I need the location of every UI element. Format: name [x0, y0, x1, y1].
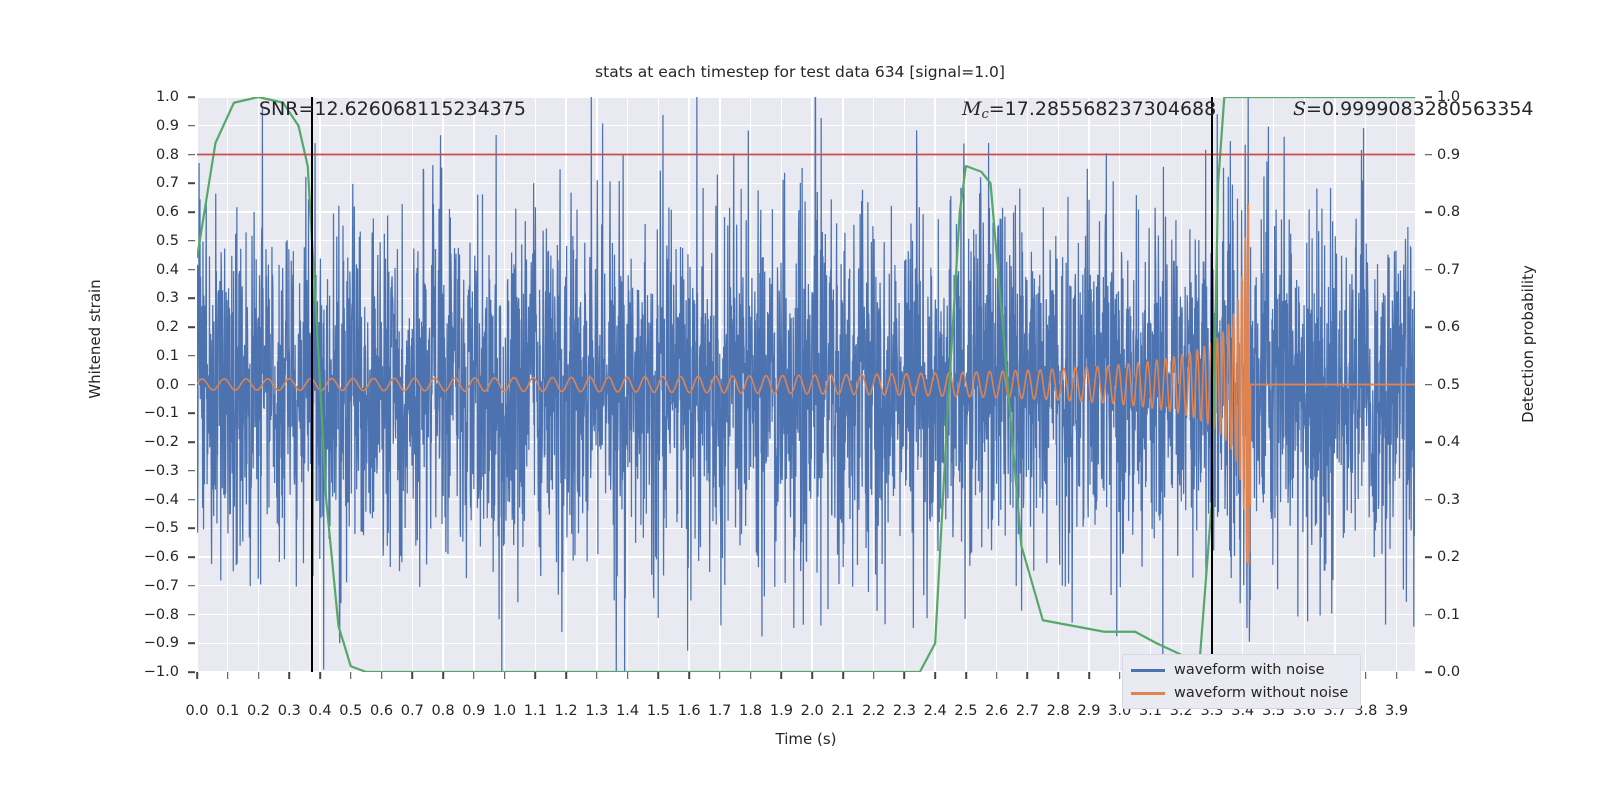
y-tick-label-right: 0.5	[1437, 377, 1497, 393]
x-tick-mark	[996, 672, 998, 679]
x-tick-mark	[350, 672, 352, 679]
x-tick-mark	[719, 672, 721, 679]
y-axis-left-label: Whitened strain	[86, 239, 104, 439]
mc-marker	[1211, 97, 1213, 672]
snr-annotation: SNR=12.626068115234375	[259, 98, 526, 120]
y-tick-label-left: −0.8	[123, 607, 179, 623]
y-tick-label-left: −0.7	[123, 578, 179, 594]
legend-swatch	[1131, 669, 1165, 672]
x-tick-mark	[781, 672, 783, 679]
y-tick-mark-right	[1425, 154, 1432, 156]
y-tick-label-left: 0.1	[123, 348, 179, 364]
y-tick-label-right: 0.2	[1437, 549, 1497, 565]
score-eq: =	[1306, 98, 1322, 120]
y-tick-mark-left	[188, 585, 195, 587]
y-tick-mark-right	[1425, 556, 1432, 558]
y-tick-mark-right	[1425, 211, 1432, 213]
y-tick-mark-right	[1425, 384, 1432, 386]
x-tick-mark	[627, 672, 629, 679]
y-tick-mark-left	[188, 671, 195, 673]
x-tick-mark	[1088, 672, 1090, 679]
y-tick-mark-left	[188, 384, 195, 386]
y-tick-label-left: −0.9	[123, 635, 179, 651]
x-tick-mark	[1057, 672, 1059, 679]
y-tick-mark-left	[188, 499, 195, 501]
y-tick-mark-left	[188, 556, 195, 558]
legend[interactable]: waveform with noisewaveform without nois…	[1122, 654, 1361, 709]
snr-value: 12.626068115234375	[314, 98, 526, 120]
y-tick-label-right: 0.3	[1437, 492, 1497, 508]
score-annotation: S=0.9999083280563354	[1293, 98, 1534, 120]
y-tick-label-left: 0.8	[123, 147, 179, 163]
x-tick-mark	[565, 672, 567, 679]
y-tick-mark-left	[188, 96, 195, 98]
y-tick-mark-left	[188, 154, 195, 156]
chart-title: stats at each timestep for test data 634…	[0, 63, 1600, 81]
x-tick-mark	[442, 672, 444, 679]
x-tick-mark	[288, 672, 290, 679]
merger-spike	[1248, 203, 1249, 551]
y-tick-label-right: 0.1	[1437, 607, 1497, 623]
y-tick-mark-left	[188, 642, 195, 644]
y-tick-label-left: 0.4	[123, 262, 179, 278]
x-tick-mark	[596, 672, 598, 679]
y-tick-label-left: 0.7	[123, 175, 179, 191]
x-tick-mark	[750, 672, 752, 679]
y-tick-mark-left	[188, 412, 195, 414]
y-tick-label-left: 0.3	[123, 290, 179, 306]
y-axis-right-label: Detection probability	[1519, 224, 1537, 464]
y-tick-mark-left	[188, 441, 195, 443]
y-tick-label-left: −1.0	[123, 664, 179, 680]
y-tick-label-left: 0.9	[123, 118, 179, 134]
chirp-mass-value: 17.285568237304688	[1005, 98, 1217, 120]
x-tick-mark	[473, 672, 475, 679]
x-tick-mark	[258, 672, 260, 679]
chirp-mass-symbol: M	[962, 98, 981, 120]
x-tick-mark	[1027, 672, 1029, 679]
y-tick-label-left: 0.0	[123, 377, 179, 393]
legend-label: waveform with noise	[1174, 662, 1325, 678]
y-tick-mark-left	[188, 527, 195, 529]
y-tick-mark-right	[1425, 441, 1432, 443]
y-tick-mark-right	[1425, 614, 1432, 616]
x-tick-mark	[412, 672, 414, 679]
x-tick-mark	[1396, 672, 1398, 679]
y-tick-mark-left	[188, 269, 195, 271]
snr-label: SNR=	[259, 98, 314, 120]
y-tick-mark-left	[188, 614, 195, 616]
y-tick-label-right: 0.7	[1437, 262, 1497, 278]
score-value: 0.9999083280563354	[1322, 98, 1534, 120]
x-tick-mark	[504, 672, 506, 679]
y-tick-label-left: −0.6	[123, 549, 179, 565]
y-tick-label-left: 1.0	[123, 89, 179, 105]
y-tick-mark-right	[1425, 269, 1432, 271]
y-tick-mark-right	[1425, 326, 1432, 328]
legend-item[interactable]: waveform with noise	[1131, 662, 1348, 678]
y-tick-mark-right	[1425, 499, 1432, 501]
y-tick-mark-left	[188, 355, 195, 357]
y-tick-label-right: 0.6	[1437, 319, 1497, 335]
figure-canvas: stats at each timestep for test data 634…	[0, 0, 1600, 800]
legend-label: waveform without noise	[1174, 685, 1348, 701]
y-tick-label-left: −0.1	[123, 405, 179, 421]
x-tick-mark	[1119, 672, 1121, 679]
y-tick-label-right: 0.9	[1437, 147, 1497, 163]
x-tick-mark	[319, 672, 321, 679]
x-tick-mark	[1365, 672, 1367, 679]
x-tick-mark	[227, 672, 229, 679]
y-tick-mark-left	[188, 297, 195, 299]
chirp-mass-eq: =	[989, 98, 1005, 120]
y-tick-label-right: 0.8	[1437, 204, 1497, 220]
y-tick-mark-left	[188, 125, 195, 127]
x-tick-mark	[381, 672, 383, 679]
score-symbol: S	[1293, 98, 1306, 120]
y-tick-mark-left	[188, 470, 195, 472]
legend-swatch	[1131, 692, 1165, 695]
y-tick-label-left: −0.3	[123, 463, 179, 479]
y-tick-mark-left	[188, 182, 195, 184]
x-axis-label: Time (s)	[197, 730, 1415, 748]
x-tick-mark	[811, 672, 813, 679]
y-tick-label-left: 0.6	[123, 204, 179, 220]
y-tick-label-left: −0.5	[123, 520, 179, 536]
y-tick-label-right: 0.4	[1437, 434, 1497, 450]
x-tick-mark	[196, 672, 198, 679]
chirp-mass-subscript: c	[981, 107, 988, 122]
series-svg	[197, 97, 1415, 672]
y-tick-mark-left	[188, 240, 195, 242]
x-tick-mark	[965, 672, 967, 679]
y-tick-label-left: −0.4	[123, 492, 179, 508]
plot-area[interactable]	[197, 97, 1415, 672]
x-tick-label: 3.9	[1375, 703, 1419, 719]
legend-item[interactable]: waveform without noise	[1131, 685, 1348, 701]
y-tick-mark-left	[188, 326, 195, 328]
x-tick-mark	[535, 672, 537, 679]
y-tick-mark-right	[1425, 671, 1432, 673]
x-tick-mark	[873, 672, 875, 679]
x-tick-mark	[934, 672, 936, 679]
snr-marker	[311, 97, 313, 672]
x-tick-mark	[688, 672, 690, 679]
y-tick-label-left: 0.2	[123, 319, 179, 335]
x-tick-mark	[904, 672, 906, 679]
chirp-mass-annotation: Mc=17.285568237304688	[962, 98, 1216, 122]
x-tick-mark	[842, 672, 844, 679]
x-tick-mark	[658, 672, 660, 679]
series-layer	[197, 97, 1415, 672]
y-tick-label-right: 0.0	[1437, 664, 1497, 680]
y-tick-label-left: 0.5	[123, 233, 179, 249]
y-tick-label-left: −0.2	[123, 434, 179, 450]
y-tick-mark-left	[188, 211, 195, 213]
